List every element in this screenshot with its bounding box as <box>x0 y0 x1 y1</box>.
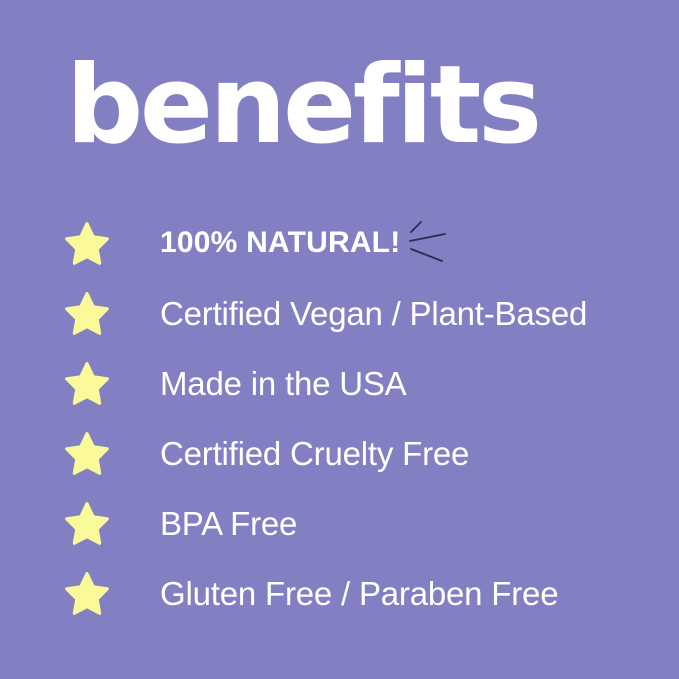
star-icon <box>64 290 110 336</box>
list-item: Made in the USA <box>0 348 679 418</box>
star-icon <box>64 360 110 406</box>
benefit-label: Certified Vegan / Plant-Based <box>160 297 587 330</box>
benefit-label: 100% NATURAL! <box>160 228 400 258</box>
page-title: benefits <box>66 52 539 160</box>
benefits-card: benefits 100% NATURAL! Certified Vegan /… <box>0 0 679 679</box>
star-icon <box>64 430 110 476</box>
sparkle-icon <box>402 217 454 269</box>
star-icon <box>64 500 110 546</box>
benefit-label: BPA Free <box>160 507 297 540</box>
list-item: Gluten Free / Paraben Free <box>0 558 679 628</box>
benefit-label: Certified Cruelty Free <box>160 437 469 470</box>
benefit-label: Made in the USA <box>160 367 406 400</box>
list-item: Certified Vegan / Plant-Based <box>0 278 679 348</box>
star-icon <box>64 570 110 616</box>
list-item: BPA Free <box>0 488 679 558</box>
benefit-label: Gluten Free / Paraben Free <box>160 577 558 610</box>
star-icon <box>64 220 110 266</box>
list-item: 100% NATURAL! <box>0 208 679 278</box>
list-item: Certified Cruelty Free <box>0 418 679 488</box>
benefits-list: 100% NATURAL! Certified Vegan / Plant-Ba… <box>0 208 679 628</box>
